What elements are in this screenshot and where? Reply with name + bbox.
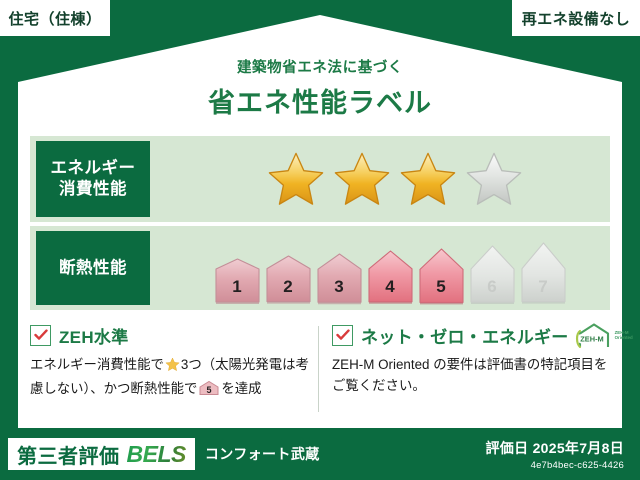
energy-performance-row: エネルギー 消費性能 [30,136,610,222]
insulation-grade-number: 4 [385,277,394,297]
zeh-m-logo-text: ZEH-M [580,334,603,343]
insulation-performance-row: 断熱性能 1234567 [30,226,610,310]
energy-label-line2: 消費性能 [59,179,127,200]
zeh-m-logo: ZEH-M ZEH-M Oriented [575,322,633,349]
info-column-divider [318,326,319,412]
check-icon [336,329,350,341]
insulation-grade-number: 5 [436,277,445,297]
insulation-grade-number: 1 [232,277,241,297]
label-title: 省エネ性能ラベル [0,81,640,120]
zeh-m-house-icon: ZEH-M [575,322,613,349]
check-icon [34,329,48,341]
zeh-standard-checkbox[interactable] [30,325,51,346]
inline-grade-badge-text: 5 [207,385,212,395]
insulation-grade-filled: 4 [366,249,415,305]
renewable-equipment-tag: 再エネ設備なし [512,0,640,36]
zeh-standard-heading: ZEH水準 [30,322,312,348]
net-zero-energy-title: ネット・ゼロ・エネルギー [361,323,569,348]
insulation-grade-empty: 6 [468,244,517,305]
energy-performance-label: エネルギー 消費性能 [36,141,150,217]
energy-label-line1: エネルギー [51,158,136,179]
insulation-grade-filled: 2 [264,254,313,305]
evaluation-id: 4e7b4bec-c625-4426 [485,460,624,471]
bels-logo-jp: 第三者評価 [17,440,120,469]
evaluation-date: 評価日 2025年7月8日 [485,438,624,458]
inline-grade-badge: 5 [198,380,220,403]
net-zero-energy-block: ネット・ゼロ・エネルギー ZEH-M ZEH-M Oriented ZEH-M … [332,322,618,397]
bels-logo-en: BELS [127,441,186,468]
zeh-m-caption-line2: Oriented [615,335,633,340]
zeh-standard-block: ZEH水準 エネルギー消費性能で 3つ（太陽光発電は考慮しない）、かつ断熱性能で… [30,322,312,403]
star-filled-icon [266,150,326,208]
building-type-tag: 住宅（住棟） [0,0,110,36]
insulation-performance-label: 断熱性能 [36,231,150,305]
zeh-body-part1: エネルギー消費性能で [30,357,164,372]
net-zero-energy-body: ZEH-M Oriented の要件は評価書の特記項目をご覧ください。 [332,355,618,397]
bels-logo: 第三者評価 BELS [8,438,195,470]
building-name: コンフォート武蔵 [205,444,320,464]
zeh-m-logo-caption: ZEH-M Oriented [615,330,633,340]
insulation-grade-number: 3 [334,277,343,297]
label-title-block: 建築物省エネ法に基づく 省エネ性能ラベル [0,56,640,120]
net-zero-energy-heading: ネット・ゼロ・エネルギー ZEH-M ZEH-M Oriented [332,322,618,348]
net-zero-energy-checkbox[interactable] [332,325,353,346]
insulation-grade-filled: 3 [315,252,364,305]
insulation-grade-number: 7 [538,277,547,297]
star-filled-icon [398,150,458,208]
footer-bar: 第三者評価 BELS コンフォート武蔵 評価日 2025年7月8日 4e7b4b… [0,428,640,480]
zeh-standard-title: ZEH水準 [59,323,129,348]
energy-performance-label: 住宅（住棟） 再エネ設備なし 建築物省エネ法に基づく 省エネ性能ラベル エネルギ… [0,0,640,480]
zeh-standard-body: エネルギー消費性能で 3つ（太陽光発電は考慮しない）、かつ断熱性能で 5 を達成 [30,355,312,403]
building-type-tag-label: 住宅（住棟） [8,8,101,29]
renewable-equipment-tag-label: 再エネ設備なし [522,8,631,29]
insulation-grade-filled: 1 [213,257,262,305]
star-rating [150,136,610,222]
star-empty-icon [464,150,524,208]
insulation-grade-number: 6 [487,277,496,297]
insulation-grade-number: 2 [283,277,292,297]
star-filled-icon [332,150,392,208]
insulation-grade-scale: 1234567 [150,221,610,315]
performance-panel: エネルギー 消費性能 断熱性能 1234567 [30,136,610,310]
label-subtitle: 建築物省エネ法に基づく [0,56,640,77]
insulation-label-line1: 断熱性能 [59,258,127,279]
inline-star-icon [165,357,180,379]
insulation-grade-empty: 7 [519,241,568,305]
zeh-body-part3: を達成 [221,381,261,396]
evaluation-info: 評価日 2025年7月8日 4e7b4bec-c625-4426 [485,438,624,471]
insulation-grade-filled: 5 [417,247,466,305]
